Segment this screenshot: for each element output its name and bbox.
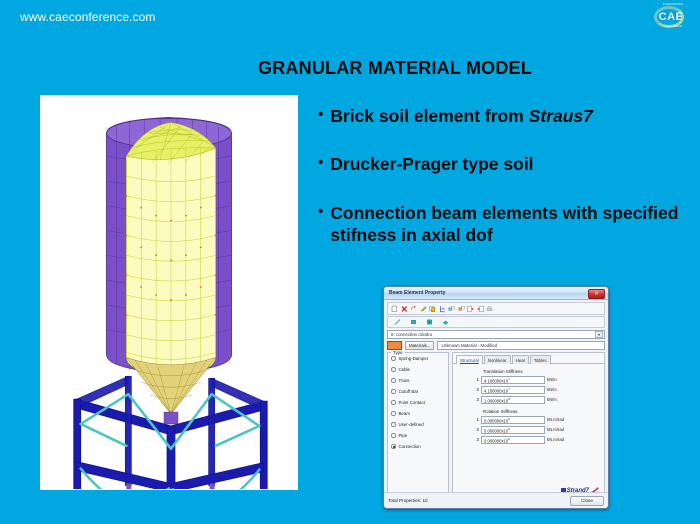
total-properties-label: Total Properties: 10 [388,498,428,503]
material-color-swatch[interactable] [387,341,402,350]
silo-fe-model-svg: Z X Y [41,96,297,489]
type-option-truss[interactable]: Truss [391,378,446,383]
list-item: • Brick soil element from Straus7 [318,105,690,127]
dialog-title: Beam Element Property [389,290,445,296]
granular-material-body [125,122,216,375]
tab-tables[interactable]: Tables [530,355,551,364]
row-index: 3 [457,437,479,442]
chevron-down-icon[interactable]: ▾ [595,331,603,338]
unit-label: kN.m/rad [547,417,564,422]
unit-label: kN/m [547,387,557,392]
rotation-stiffness-row: 2 0.000000x100 kN.m/rad [457,426,600,434]
logo-top-text: INTERNATIONAL [658,3,688,6]
type-option-user-defined[interactable]: User-defined [391,422,446,427]
type-option-connection[interactable]: Connection [391,444,446,449]
bullet-emphasis: Straus7 [529,106,593,126]
close-button[interactable]: Close [570,496,604,506]
radio-icon[interactable] [391,422,396,427]
assign-icon[interactable] [448,305,455,313]
type-option-beam[interactable]: Beam [391,411,446,416]
radio-icon[interactable] [391,356,396,361]
materials-button[interactable]: Materials... [405,341,434,350]
silo-fe-model-figure: Z X Y [40,95,298,490]
property-select[interactable]: 8: connection cilindro ▾ [387,330,605,339]
tab-heat[interactable]: Heat [512,355,529,364]
bullet-marker: • [318,202,323,222]
dialog-toolbar-secondary[interactable] [387,316,605,328]
sort-icon[interactable] [439,305,446,313]
type-option-spring-damper[interactable]: Spring-Damper [391,356,446,361]
undo-icon[interactable] [410,305,417,313]
type-option-label: Cable [399,367,410,372]
dialog-footer: Total Properties: 10 Close [384,492,608,508]
radio-icon[interactable] [391,378,396,383]
rotation-stiffness-title: Rotation Stiffness [483,409,600,414]
radio-icon[interactable] [391,367,396,372]
close-icon[interactable]: ✕ [588,289,605,299]
radio-icon[interactable] [391,433,396,438]
page-title: GRANULAR MATERIAL MODEL [0,58,700,79]
translation-stiffness-input-3[interactable]: 1.000000x108 [481,396,545,404]
translation-stiffness-title: Translation Stiffness [483,369,600,374]
row-index: 2 [457,387,479,392]
type-group: Type Spring-Damper Cable Truss Cutoff Ba… [387,352,449,498]
logo-text: CAE [659,11,684,23]
unit-label: kN.m/rad [547,427,564,432]
bullet-marker: • [318,105,323,125]
rotation-stiffness-row: 3 0.000000x100 kN.m/rad [457,436,600,444]
unit-label: kN/m [547,377,557,382]
radio-icon[interactable] [391,444,396,449]
beam-line-icon[interactable] [394,318,401,326]
dialog-toolbar[interactable] [387,302,605,315]
type-option-label: User-defined [399,422,424,427]
type-option-point-contact[interactable]: Point Contact [391,400,446,405]
radio-icon[interactable] [391,389,396,394]
export-icon[interactable] [477,305,484,313]
tab-nonlinear[interactable]: Nonlinear [484,355,511,364]
print-icon[interactable] [486,305,493,313]
section-solid-icon[interactable] [442,318,449,326]
bullet-marker: • [318,153,323,173]
type-option-label: Connection [399,444,421,449]
new-property-icon[interactable] [391,305,398,313]
unit-label: kN/m [547,397,557,402]
rotation-stiffness-row: 1 0.000000x100 kN.m/rad [457,416,600,424]
rotation-stiffness-input-2[interactable]: 0.000000x100 [481,426,545,434]
material-name-field[interactable]: Unknown Material - Modified [437,341,605,350]
import-icon[interactable] [467,305,474,313]
property-select-value: 8: connection cilindro [391,332,432,337]
list-item: • Connection beam elements with specifie… [318,202,690,247]
list-item: • Drucker-Prager type soil [318,153,690,175]
logo-bottom-text: CONFERENCE [658,25,688,28]
rotation-stiffness-input-1[interactable]: 0.000000x100 [481,416,545,424]
type-option-label: Cutoff Bar [399,389,419,394]
bullet-text: Connection beam elements with specified … [330,202,690,247]
section-box-icon[interactable] [426,318,433,326]
translation-stiffness-input-1[interactable]: 4.100000x107 [481,376,545,384]
cae-conference-logo: INTERNATIONAL CAE CONFERENCE [652,3,692,31]
type-group-legend: Type [391,350,405,355]
row-index: 1 [457,417,479,422]
rotation-stiffness-input-3[interactable]: 0.000000x100 [481,436,545,444]
type-option-label: Beam [399,411,410,416]
translation-stiffness-row: 2 4.100000x107 kN/m [457,386,600,394]
radio-icon[interactable] [391,400,396,405]
unit-label: kN.m/rad [547,437,564,442]
row-index: 2 [457,427,479,432]
type-option-label: Truss [399,378,410,383]
bullet-list: • Brick soil element from Straus7 • Druc… [318,105,690,273]
bullet-text: Drucker-Prager type soil [330,153,533,175]
material-row: Materials... Unknown Material - Modified [387,341,605,350]
unassign-icon[interactable] [458,305,465,313]
translation-stiffness-row: 3 1.000000x108 kN/m [457,396,600,404]
copy-property-icon[interactable] [429,305,436,313]
dialog-titlebar[interactable]: Beam Element Property ✕ [384,287,608,300]
type-option-label: Spring-Damper [399,356,429,361]
translation-stiffness-row: 1 4.100000x107 kN/m [457,376,600,384]
type-option-cutoff-bar[interactable]: Cutoff Bar [391,389,446,394]
row-index: 3 [457,397,479,402]
delete-property-icon[interactable] [401,305,408,313]
bullet-text: Brick soil element from Straus7 [330,105,593,127]
type-option-cable[interactable]: Cable [391,367,446,372]
structural-tab-pane: Translation Stiffness 1 4.100000x107 kN/… [453,363,604,444]
type-option-pipe[interactable]: Pipe [391,433,446,438]
row-index: 1 [457,377,479,382]
property-panel: Structural Nonlinear Heat Tables Transla… [452,352,605,498]
radio-icon[interactable] [391,411,396,416]
type-option-label: Point Contact [399,400,425,405]
beam-element-property-dialog[interactable]: Beam Element Property ✕ 8: connectio [383,286,609,509]
tab-structural[interactable]: Structural [456,355,483,364]
section-square-icon[interactable] [410,318,417,326]
type-option-label: Pipe [399,433,408,438]
site-url: www.caeconference.com [20,10,156,24]
edit-icon[interactable] [420,305,427,313]
translation-stiffness-input-2[interactable]: 4.100000x107 [481,386,545,394]
